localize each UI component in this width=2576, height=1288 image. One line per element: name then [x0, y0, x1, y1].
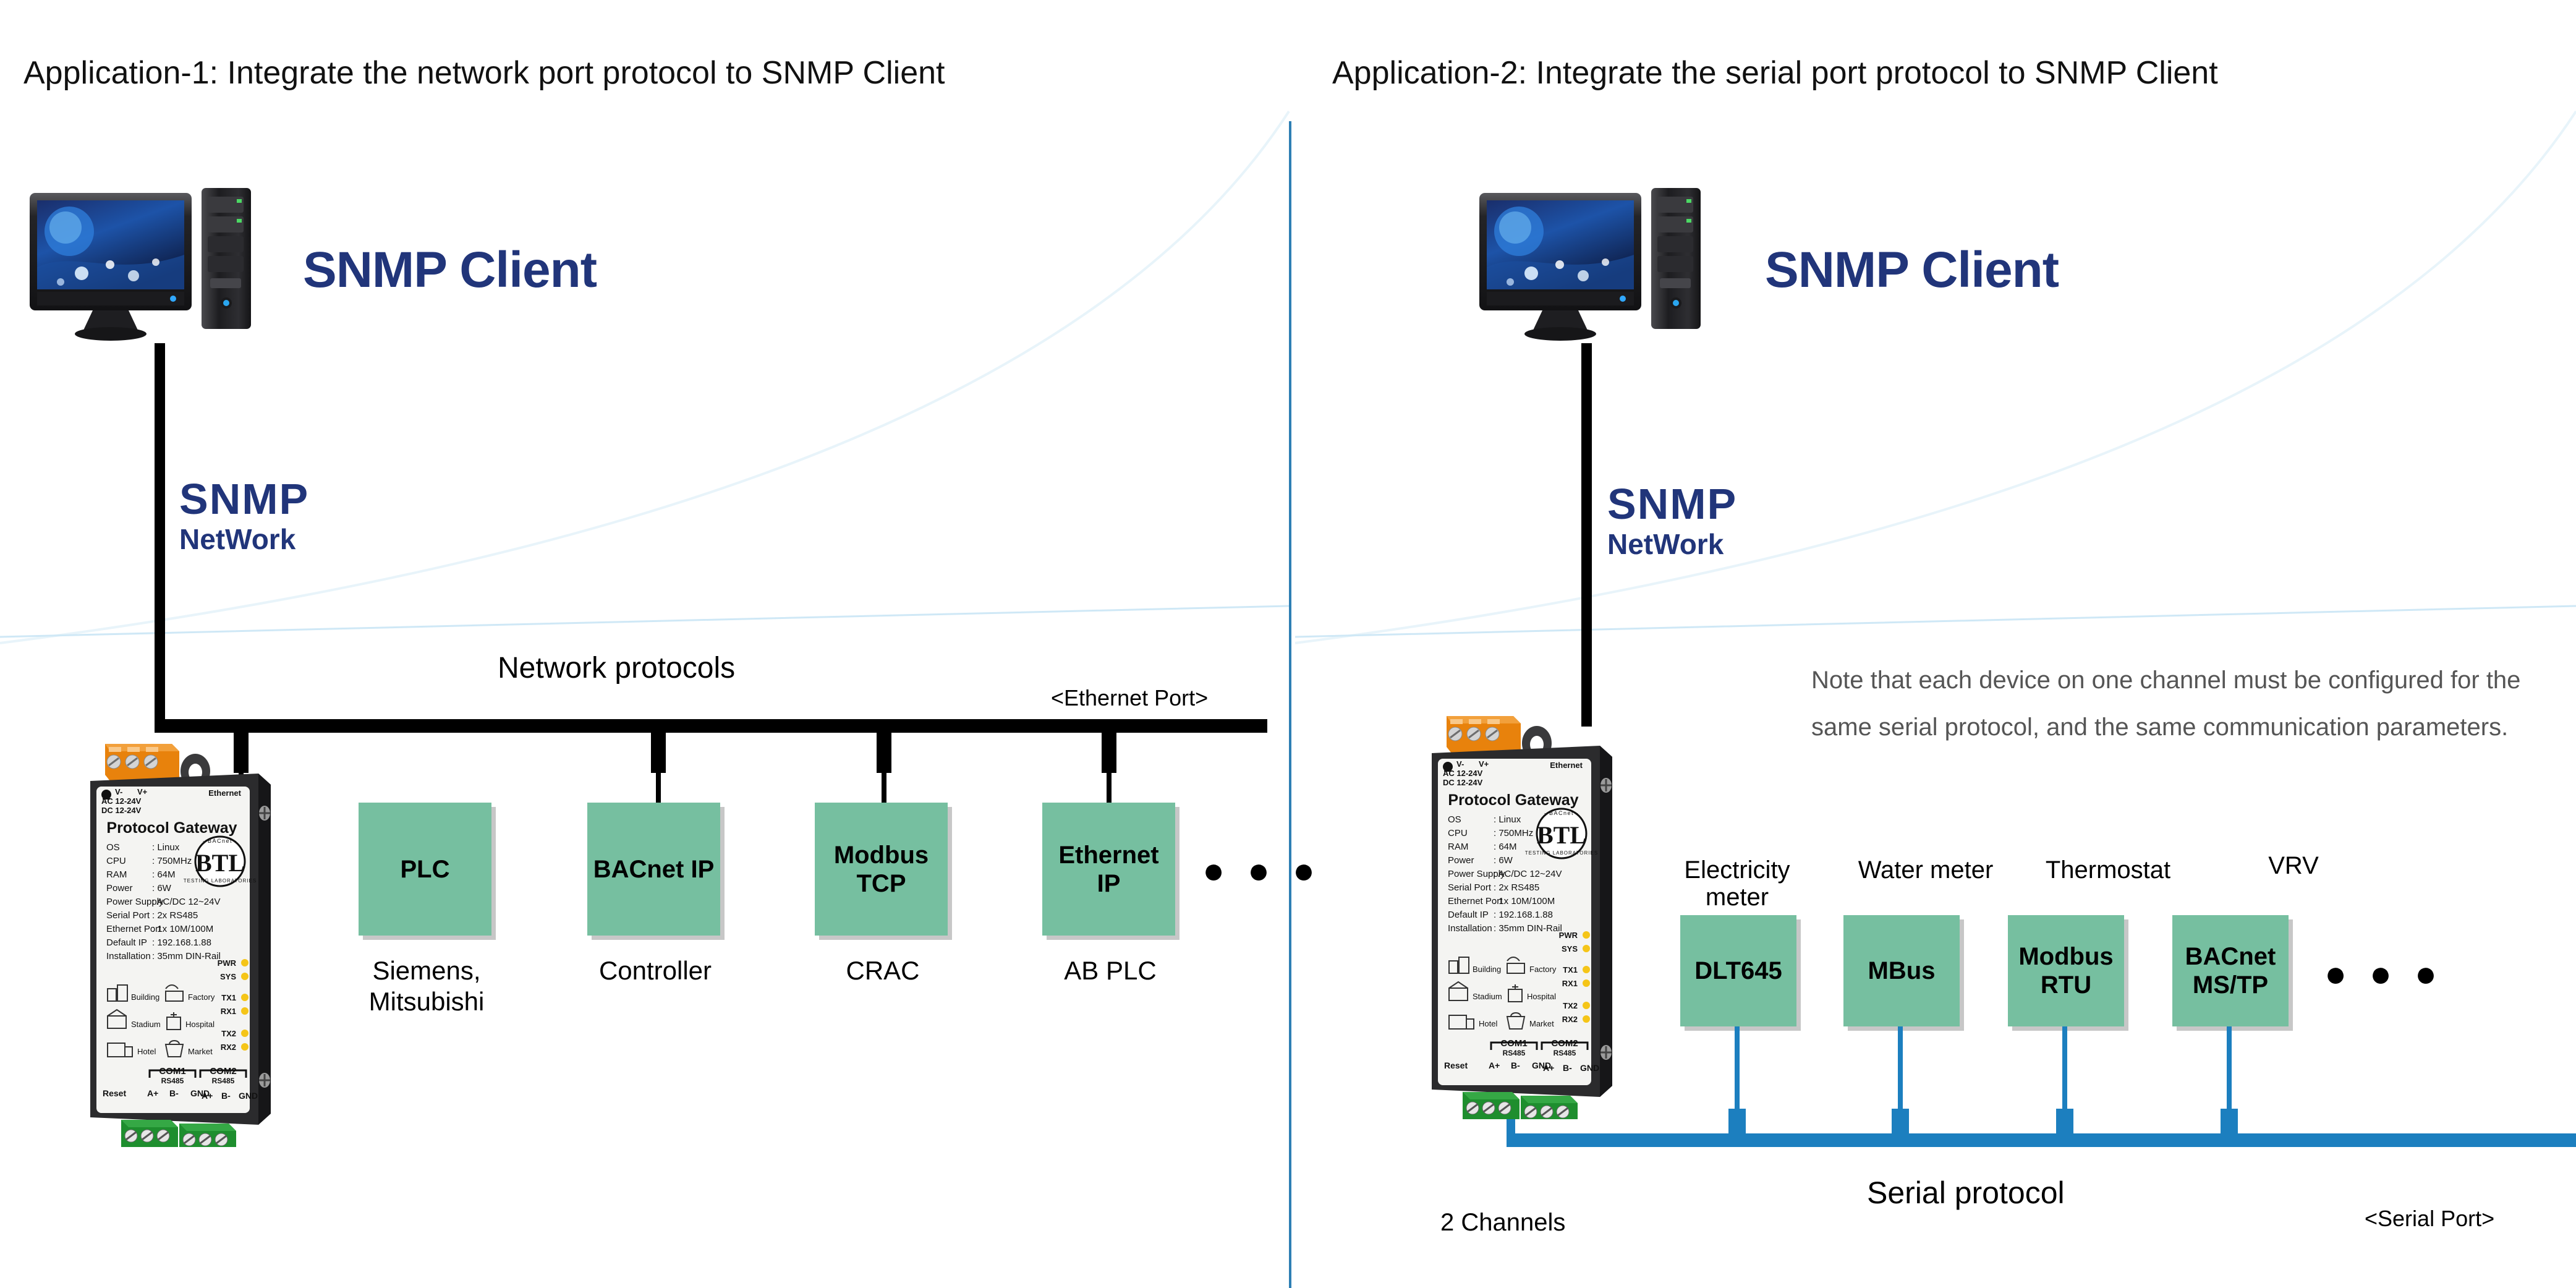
svg-text:: 192.168.1.88: : 192.168.1.88 — [152, 937, 211, 948]
diagram-canvas: Application-1: Integrate the network por… — [0, 0, 2576, 1288]
green-serial-connector-right-1 — [1463, 1092, 1520, 1119]
svg-text:B-: B- — [1563, 1063, 1572, 1073]
green-serial-connector-right-2 — [1521, 1096, 1578, 1119]
device-label-thermostat: Thermostat — [2012, 856, 2204, 884]
svg-text:Market: Market — [1529, 1019, 1554, 1028]
serial-drop-line-0 — [1735, 1026, 1740, 1122]
serial-protocol-label: Serial protocol — [1867, 1175, 2065, 1211]
snmp-client-label-right: SNMP Client — [1765, 241, 2059, 299]
svg-text:PWR: PWR — [218, 958, 237, 968]
protocol-box-ethernet-ip[interactable]: Ethernet IP — [1042, 803, 1175, 936]
svg-text:GND: GND — [239, 1091, 258, 1101]
svg-text:: 6W: : 6W — [152, 883, 172, 893]
svg-text:RX2: RX2 — [1562, 1015, 1578, 1024]
svg-text:TX1: TX1 — [1563, 965, 1578, 975]
orange-power-connector — [105, 744, 179, 781]
svg-text:Serial Port: Serial Port — [1448, 882, 1492, 893]
drop-wire-line-1 — [656, 767, 661, 804]
serial-bus-bar — [1507, 1133, 2576, 1147]
svg-text:Building: Building — [1473, 965, 1501, 974]
svg-text:: 1x 10M/100M: : 1x 10M/100M — [1494, 896, 1555, 906]
svg-text:PWR: PWR — [1559, 931, 1578, 940]
svg-text:TX1: TX1 — [221, 993, 236, 1002]
svg-text:COM2: COM2 — [1551, 1038, 1578, 1049]
panel-divider — [1289, 121, 1291, 1288]
serial-note-text: Note that each device on one channel mus… — [1811, 657, 2541, 751]
protocol-box-plc[interactable]: PLC — [359, 803, 491, 936]
protocol-caption-modbus-tcp: CRAC — [772, 955, 994, 986]
protocol-box-bacnet-ip[interactable]: BACnet IP — [587, 803, 720, 936]
svg-text:CPU: CPU — [106, 856, 126, 866]
gw-dc: DC 12-24V — [101, 806, 142, 815]
svg-text:AC 12-24V: AC 12-24V — [1443, 769, 1483, 778]
gw-title: Protocol Gateway — [106, 819, 237, 837]
svg-text:Serial Port: Serial Port — [106, 910, 150, 921]
serial-drop-line-1 — [1898, 1026, 1903, 1122]
svg-text:CPU: CPU — [1448, 828, 1468, 838]
snmp-client-computer-right — [1474, 186, 1740, 346]
svg-text:: 192.168.1.88: : 192.168.1.88 — [1494, 910, 1553, 920]
protocol-caption-ethernet-ip: AB PLC — [999, 955, 1222, 986]
svg-text:DC 12-24V: DC 12-24V — [1443, 778, 1483, 787]
protocol-box-modbus-tcp[interactable]: Modbus TCP — [815, 803, 948, 936]
drop-wire-line-3 — [1107, 767, 1112, 804]
green-serial-connector-2 — [179, 1124, 236, 1147]
protocol-box-mbus[interactable]: MBus — [1843, 915, 1960, 1026]
svg-text:TESTING LABORATORIES: TESTING LABORATORIES — [184, 878, 257, 884]
svg-text:BTL: BTL — [195, 849, 245, 877]
svg-text:· BACnet ·: · BACnet · — [1544, 810, 1579, 816]
ellipsis-left: ● ● ● — [1202, 852, 1321, 889]
snmp-network-line1-right: SNMP — [1607, 481, 1737, 527]
ethernet-port-label: <Ethernet Port> — [1051, 685, 1208, 711]
svg-text:B-: B- — [221, 1091, 231, 1101]
gw-ac: AC 12-24V — [101, 796, 142, 806]
svg-text:· BACnet ·: · BACnet · — [202, 838, 237, 844]
svg-text:RS485: RS485 — [1503, 1049, 1526, 1057]
svg-text:Hotel: Hotel — [1479, 1019, 1497, 1028]
protocol-caption-bacnet-ip: Controller — [544, 955, 767, 986]
svg-text:: Linux: : Linux — [1494, 814, 1521, 825]
protocol-gateway-right[interactable]: BTL · BACnet · TESTING LABORATORIES — [1414, 699, 1631, 1119]
gw-ethernet: Ethernet — [208, 788, 241, 798]
protocol-box-dlt645[interactable]: DLT645 — [1680, 915, 1796, 1026]
svg-text:Market: Market — [188, 1047, 213, 1056]
svg-text:Power: Power — [1448, 855, 1474, 866]
svg-text:RS485: RS485 — [212, 1077, 235, 1085]
svg-text:SYS: SYS — [220, 972, 236, 981]
svg-text:Installation: Installation — [1448, 923, 1492, 934]
panel-title-right: Application-2: Integrate the serial port… — [1332, 54, 2218, 92]
svg-text:Reset: Reset — [103, 1088, 126, 1098]
svg-text:: 64M: : 64M — [152, 869, 176, 880]
svg-text:RX1: RX1 — [221, 1007, 236, 1016]
svg-text:COM2: COM2 — [210, 1066, 236, 1077]
svg-text:: Linux: : Linux — [152, 842, 180, 853]
svg-text:: 1x 10M/100M: : 1x 10M/100M — [152, 924, 213, 934]
svg-text:RAM: RAM — [106, 869, 127, 880]
svg-text:TESTING LABORATORIES: TESTING LABORATORIES — [1525, 850, 1598, 856]
svg-text:BTL: BTL — [1537, 821, 1586, 849]
background-decoration — [0, 0, 2576, 1288]
svg-text:Building: Building — [131, 992, 159, 1002]
gw-vminus: V- — [115, 787, 122, 796]
orange-power-connector-right — [1447, 716, 1521, 753]
svg-text:Installation: Installation — [106, 951, 151, 962]
svg-text:Factory: Factory — [188, 992, 215, 1002]
ellipsis-right: ● ● ● — [2324, 955, 2443, 992]
snmp-client-label-left: SNMP Client — [303, 241, 597, 299]
svg-text:: AC/DC 12~24V: : AC/DC 12~24V — [152, 897, 220, 907]
svg-text:Stadium: Stadium — [131, 1020, 161, 1029]
svg-text:V+: V+ — [1479, 759, 1489, 769]
svg-text:: 64M: : 64M — [1494, 842, 1517, 852]
svg-text:SYS: SYS — [1562, 944, 1578, 953]
svg-text:V-: V- — [1456, 759, 1464, 769]
device-label-electricity-meter: Electricity meter — [1644, 856, 1830, 911]
svg-text:Hospital: Hospital — [185, 1020, 215, 1029]
svg-text:Default IP: Default IP — [1448, 910, 1489, 920]
svg-text:RS485: RS485 — [161, 1077, 184, 1085]
svg-text:RS485: RS485 — [1554, 1049, 1576, 1057]
green-serial-connector-1 — [121, 1120, 178, 1147]
svg-text:: 750MHz: : 750MHz — [152, 856, 192, 866]
svg-text:Default IP: Default IP — [106, 937, 147, 948]
svg-text:A+: A+ — [202, 1091, 213, 1101]
network-bus-bar — [155, 719, 1267, 733]
protocol-box-modbus-rtu[interactable]: Modbus RTU — [2008, 915, 2124, 1026]
svg-text:Hotel: Hotel — [137, 1047, 156, 1056]
svg-text:: 750MHz: : 750MHz — [1494, 828, 1533, 838]
network-protocols-label: Network protocols — [498, 651, 735, 685]
svg-text:: 2x RS485: : 2x RS485 — [1494, 882, 1539, 893]
svg-text:OS: OS — [1448, 814, 1461, 825]
svg-text:TX2: TX2 — [221, 1029, 236, 1038]
snmp-network-label-left: SNMP NetWork — [179, 476, 309, 557]
svg-text:GND: GND — [1580, 1063, 1599, 1073]
snmp-network-label-right: SNMP NetWork — [1607, 481, 1737, 561]
svg-text:OS: OS — [106, 842, 120, 853]
gw-vplus: V+ — [137, 787, 148, 796]
snmp-network-line2-right: NetWork — [1607, 527, 1737, 561]
svg-text:: 35mm DIN-Rail: : 35mm DIN-Rail — [152, 951, 221, 962]
svg-text:: 35mm DIN-Rail: : 35mm DIN-Rail — [1494, 923, 1562, 934]
snmp-network-line2: NetWork — [179, 522, 309, 557]
svg-text:RX2: RX2 — [221, 1043, 236, 1052]
protocol-gateway-left[interactable]: BTL · BACnet · TESTING LABORATORIES — [73, 727, 289, 1147]
svg-text:Hospital: Hospital — [1527, 992, 1556, 1001]
snmp-network-line1: SNMP — [179, 476, 309, 522]
protocol-caption-plc: Siemens, Mitsubishi — [315, 955, 538, 1017]
serial-port-label: <Serial Port> — [2365, 1206, 2494, 1232]
device-label-water-meter: Water meter — [1833, 856, 2018, 884]
svg-text:Ethernet: Ethernet — [1550, 761, 1583, 770]
device-label-vrv: VRV — [2201, 852, 2386, 879]
svg-text:Power: Power — [106, 883, 133, 893]
svg-text:A+: A+ — [1489, 1060, 1500, 1070]
svg-text:A+: A+ — [1543, 1063, 1554, 1073]
protocol-box-bacnet-mstp[interactable]: BACnet MS/TP — [2172, 915, 2289, 1026]
serial-drop-line-2 — [2062, 1026, 2067, 1122]
svg-text:B-: B- — [169, 1088, 179, 1098]
svg-text:: 6W: : 6W — [1494, 855, 1513, 866]
client-to-bus-wire-left — [155, 343, 165, 730]
svg-text:RX1: RX1 — [1562, 979, 1578, 988]
svg-text:Factory: Factory — [1529, 965, 1557, 974]
drop-wire-line-2 — [882, 767, 886, 804]
panel-title-left: Application-1: Integrate the network por… — [23, 54, 945, 92]
svg-text:Protocol Gateway: Protocol Gateway — [1448, 791, 1578, 809]
svg-text:TX2: TX2 — [1563, 1001, 1578, 1010]
client-to-gateway-wire-right — [1581, 343, 1592, 727]
svg-text:: 2x RS485: : 2x RS485 — [152, 910, 198, 921]
svg-text:: AC/DC 12~24V: : AC/DC 12~24V — [1494, 869, 1562, 879]
svg-text:A+: A+ — [147, 1088, 158, 1098]
svg-text:Stadium: Stadium — [1473, 992, 1502, 1001]
svg-text:B-: B- — [1511, 1060, 1520, 1070]
svg-text:COM1: COM1 — [159, 1066, 185, 1077]
channels-label: 2 Channels — [1440, 1209, 1565, 1237]
svg-text:COM1: COM1 — [1500, 1038, 1527, 1049]
serial-drop-line-3 — [2227, 1026, 2232, 1122]
svg-text:Reset: Reset — [1444, 1060, 1468, 1070]
svg-text:RAM: RAM — [1448, 842, 1468, 852]
snmp-client-computer-left — [25, 186, 291, 346]
